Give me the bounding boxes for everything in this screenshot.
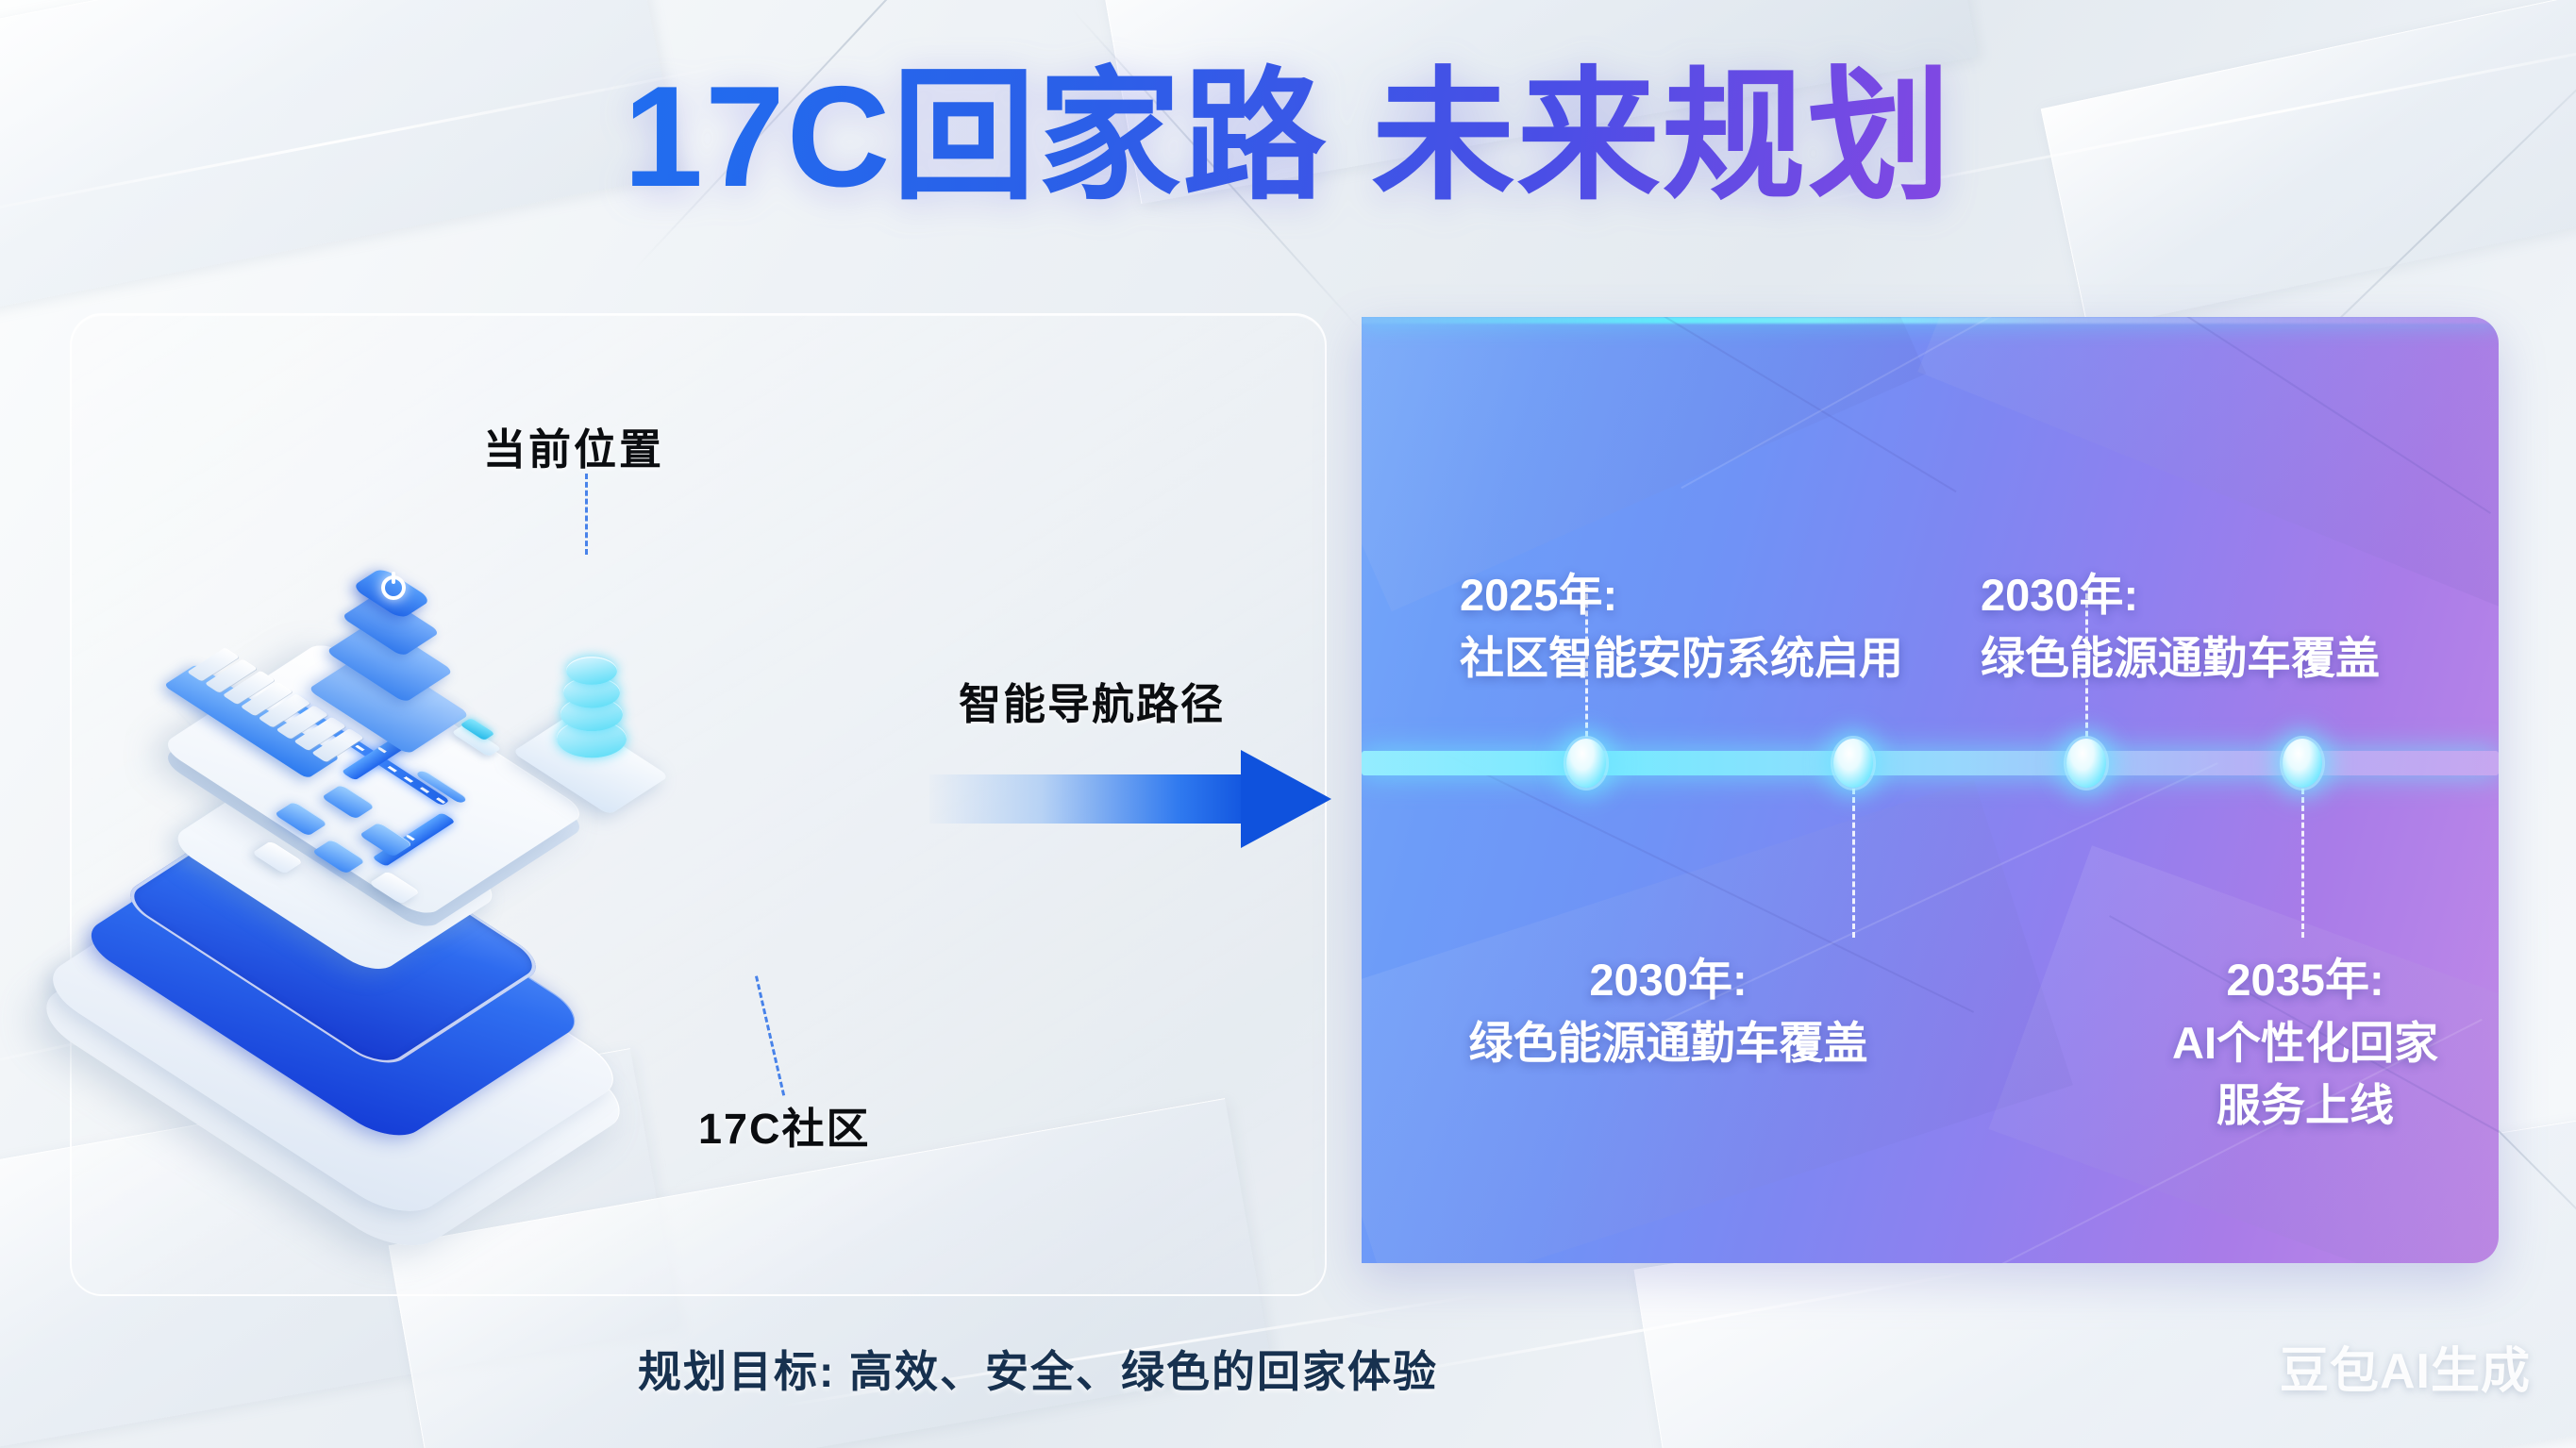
milestone-4-year: 2035年: <box>2116 949 2494 1012</box>
current-location-marker <box>326 553 468 713</box>
milestone-2-year: 2030年: <box>1465 949 1871 1012</box>
commuter-vehicle-icon <box>455 719 504 757</box>
label-current-location: 当前位置 <box>483 415 664 476</box>
milestone-4[interactable]: 2035年: AI个性化回家 服务上线 <box>2116 949 2494 1138</box>
label-community: 17C社区 <box>698 1094 871 1156</box>
page-title: 17C回家路未来规划 <box>0 57 2576 217</box>
milestone-1-desc: 社区智能安防系统启用 <box>1460 627 1903 691</box>
arrow-shaft <box>929 774 1250 824</box>
timeline-connector-4 <box>2301 789 2304 938</box>
milestone-4-desc-line2: 服务上线 <box>2116 1074 2494 1138</box>
milestone-3-desc: 绿色能源通勤车覆盖 <box>1981 627 2380 691</box>
watermark: 豆包AI生成 <box>2280 1331 2531 1402</box>
timeline-node-4[interactable] <box>2283 739 2322 788</box>
panel-hairline-1 <box>1502 317 1956 492</box>
infographic-canvas: 17C回家路未来规划 <box>0 0 2576 1448</box>
milestone-1-year: 2025年: <box>1460 564 1903 627</box>
timeline-connector-2 <box>1852 789 1855 938</box>
page-title-part1: 17C回家路 <box>624 57 1329 217</box>
arrow-head <box>1241 750 1331 848</box>
panel-hairline-3 <box>2063 317 2491 514</box>
page-title-part2: 未来规划 <box>1371 57 1952 217</box>
timeline-rail <box>1362 751 2499 775</box>
timeline-node-3[interactable] <box>2066 739 2106 788</box>
timeline-node-2[interactable] <box>1833 739 1873 788</box>
timeline-node-1[interactable] <box>1566 739 1606 788</box>
milestone-2-desc: 绿色能源通勤车覆盖 <box>1465 1012 1871 1075</box>
panel-hairline-2 <box>1681 317 2193 489</box>
right-arrow-icon <box>929 750 1330 848</box>
milestone-3[interactable]: 2030年: 绿色能源通勤车覆盖 <box>1981 564 2380 690</box>
milestone-4-desc-line1: AI个性化回家 <box>2116 1012 2494 1075</box>
footer-goal-text: 规划目标: 高效、安全、绿色的回家体验 <box>0 1338 2076 1400</box>
timeline-panel: 2025年: 社区智能安防系统启用 2030年: 绿色能源通勤车覆盖 2030年… <box>1362 317 2499 1263</box>
milestone-3-year: 2030年: <box>1981 564 2380 627</box>
energy-cylinder-tower <box>528 613 670 792</box>
milestone-2[interactable]: 2030年: 绿色能源通勤车覆盖 <box>1465 949 1871 1074</box>
label-nav-path: 智能导航路径 <box>959 670 1225 731</box>
leader-line-current-location <box>585 474 588 555</box>
cylinder-disc-4 <box>566 657 617 685</box>
isometric-community-scene <box>94 462 915 1170</box>
milestone-1[interactable]: 2025年: 社区智能安防系统启用 <box>1460 564 1903 690</box>
panel-top-glow <box>1362 317 2499 324</box>
power-icon <box>381 575 406 600</box>
